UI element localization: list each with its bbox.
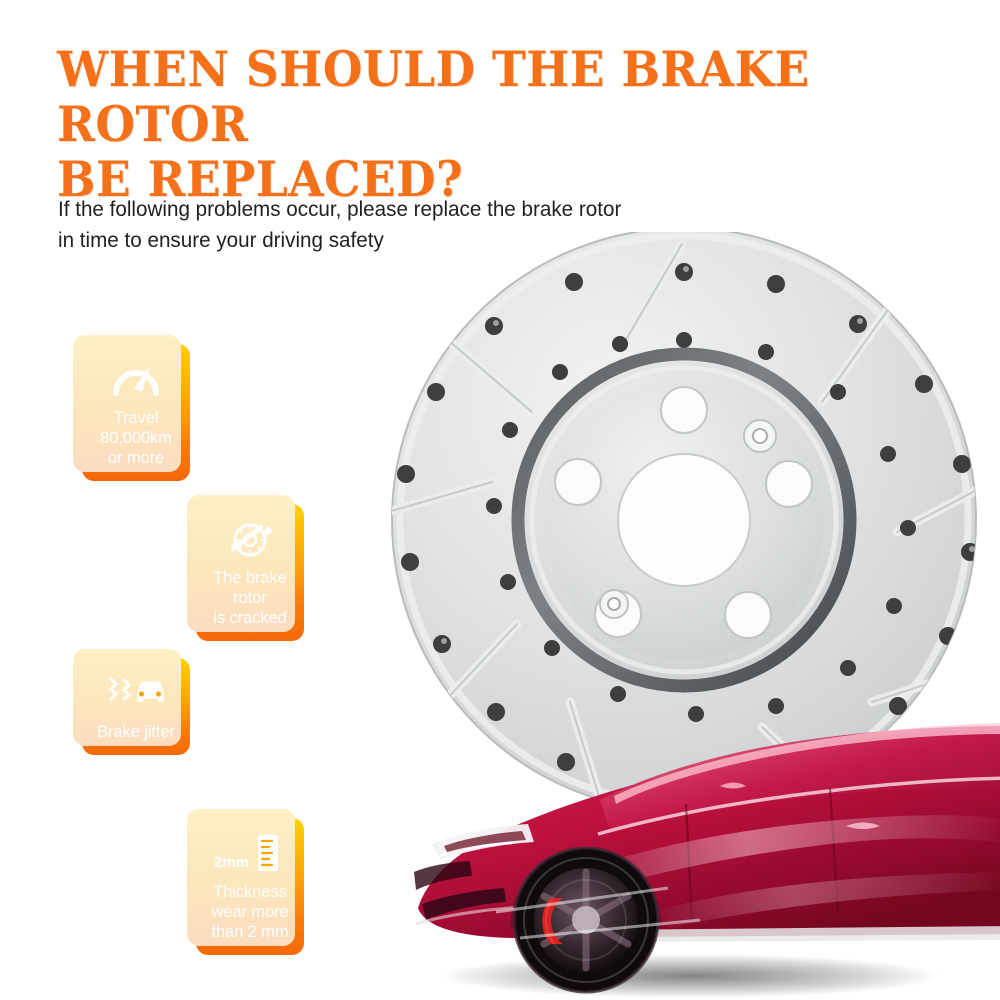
ruler-measure-text: 2mm [214,854,249,871]
feature-card-brake-jitter[interactable]: Brake jitter [82,658,190,755]
red-sedan-illustration [400,676,1000,1000]
feature-card-label: Thickness wear more than 2 mm [211,883,288,941]
car-image [400,676,1000,1000]
feature-card-label: Brake jitter [97,723,175,741]
car-front-wheel [514,848,658,992]
feature-card-travel-distance[interactable]: Travel 80,000km or more [82,344,190,481]
vibrating-car-icon [88,673,184,713]
page-title: WHEN SHOULD THE BRAKE ROTOR BE REPLACED? [57,42,875,207]
feature-card-label: The brake rotor is cracked [213,569,286,627]
cracked-rotor-wrench-icon [202,519,298,559]
ruler-2mm-icon: 2mm [202,833,298,873]
speedometer-icon [88,359,184,399]
feature-card-label: Travel 80,000km or more [100,409,172,467]
infographic-poster: WHEN SHOULD THE BRAKE ROTOR BE REPLACED?… [0,0,1000,1000]
feature-card-thickness-wear[interactable]: 2mm Thickness wear more than 2 mm [196,818,304,955]
feature-card-rotor-cracked[interactable]: The brake rotor is cracked [196,504,304,641]
